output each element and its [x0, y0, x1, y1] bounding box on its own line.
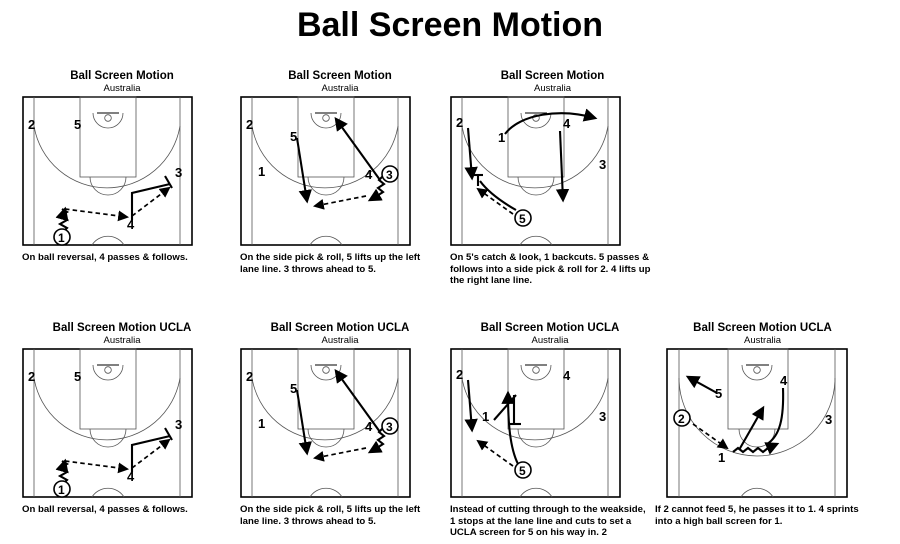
panel-title: Ball Screen Motion	[450, 70, 655, 83]
player-label-2: 2	[28, 117, 35, 132]
player-label-1: 1	[482, 409, 489, 424]
play-panel-4: Ball Screen Motion UCLA Australia	[22, 322, 222, 516]
play-panel-1: Ball Screen Motion Australia	[22, 70, 222, 264]
player-label-1: 1	[58, 231, 65, 245]
panel-title: Ball Screen Motion	[240, 70, 440, 83]
player-label-5: 5	[519, 464, 526, 478]
panel-subtitle: Australia	[450, 83, 655, 94]
court-diagram-2: 2 5 1 4 3	[240, 96, 440, 248]
court-diagram-3: 2 1 4 3 5	[450, 96, 655, 248]
play-panel-6: Ball Screen Motion UCLA Australia	[450, 322, 650, 539]
court-boundary	[451, 97, 620, 245]
panel-caption: On 5's catch & look, 1 backcuts. 5 passe…	[450, 252, 655, 287]
page-title: Ball Screen Motion	[0, 6, 900, 44]
player-label-1: 1	[58, 483, 65, 497]
panel-title: Ball Screen Motion UCLA	[450, 322, 650, 335]
player-label-3: 3	[175, 417, 182, 432]
player-label-2: 2	[678, 412, 685, 426]
play-panel-2: Ball Screen Motion Australia	[240, 70, 440, 275]
player-label-1: 1	[258, 416, 265, 431]
court-diagram-1: 2 5 3 4 1	[22, 96, 222, 248]
court-boundary	[451, 349, 620, 497]
court-diagram-6: 2 1 4 3 5	[450, 348, 650, 500]
player-label-2: 2	[28, 369, 35, 384]
player-label-4: 4	[127, 469, 135, 484]
player-label-1: 1	[258, 164, 265, 179]
panel-subtitle: Australia	[450, 335, 650, 346]
panel-subtitle: Australia	[655, 335, 870, 346]
court-diagram-7: 5 4 3 1 2	[655, 348, 870, 500]
court-diagram-4: 2 5 3 4 1	[22, 348, 222, 500]
player-label-5: 5	[290, 381, 297, 396]
panel-caption: On ball reversal, 4 passes & follows.	[22, 504, 222, 516]
player-label-4: 4	[563, 116, 571, 131]
player-label-3: 3	[175, 165, 182, 180]
player-label-3: 3	[599, 157, 606, 172]
player-label-2: 2	[456, 115, 463, 130]
panel-title: Ball Screen Motion UCLA	[240, 322, 440, 335]
player-label-2: 2	[246, 117, 253, 132]
panel-subtitle: Australia	[240, 83, 440, 94]
play-panel-7: Ball Screen Motion UCLA Australia	[655, 322, 870, 527]
player-label-5: 5	[290, 129, 297, 144]
player-label-1: 1	[498, 130, 505, 145]
player-label-5: 5	[74, 369, 81, 384]
player-label-4: 4	[365, 419, 373, 434]
player-label-5: 5	[715, 386, 722, 401]
panel-caption: On ball reversal, 4 passes & follows.	[22, 252, 222, 264]
player-label-4: 4	[365, 167, 373, 182]
panel-subtitle: Australia	[240, 335, 440, 346]
player-label-2: 2	[456, 367, 463, 382]
player-label-2: 2	[246, 369, 253, 384]
player-label-1: 1	[718, 450, 725, 465]
court-boundary	[23, 97, 192, 245]
play-panel-5: Ball Screen Motion UCLA Australia	[240, 322, 440, 527]
player-label-4: 4	[127, 217, 135, 232]
player-label-5: 5	[519, 212, 526, 226]
player-label-5: 5	[74, 117, 81, 132]
player-label-4: 4	[563, 368, 571, 383]
player-label-3: 3	[386, 168, 393, 182]
player-label-3: 3	[386, 420, 393, 434]
player-label-3: 3	[599, 409, 606, 424]
panel-title: Ball Screen Motion	[22, 70, 222, 83]
court-boundary	[667, 349, 847, 497]
panel-subtitle: Australia	[22, 335, 222, 346]
panel-subtitle: Australia	[22, 83, 222, 94]
play-panel-3: Ball Screen Motion Australia	[450, 70, 655, 287]
panel-caption: On the side pick & roll, 5 lifts up the …	[240, 504, 440, 527]
panel-title: Ball Screen Motion UCLA	[22, 322, 222, 335]
panel-caption: On the side pick & roll, 5 lifts up the …	[240, 252, 440, 275]
court-boundary	[23, 349, 192, 497]
panel-caption: If 2 cannot feed 5, he passes it to 1. 4…	[655, 504, 870, 527]
player-label-3: 3	[825, 412, 832, 427]
court-diagram-5: 2 5 1 4 3	[240, 348, 440, 500]
panel-caption: Instead of cutting through to the weaksi…	[450, 504, 650, 539]
panel-title: Ball Screen Motion UCLA	[655, 322, 870, 335]
player-label-4: 4	[780, 373, 788, 388]
